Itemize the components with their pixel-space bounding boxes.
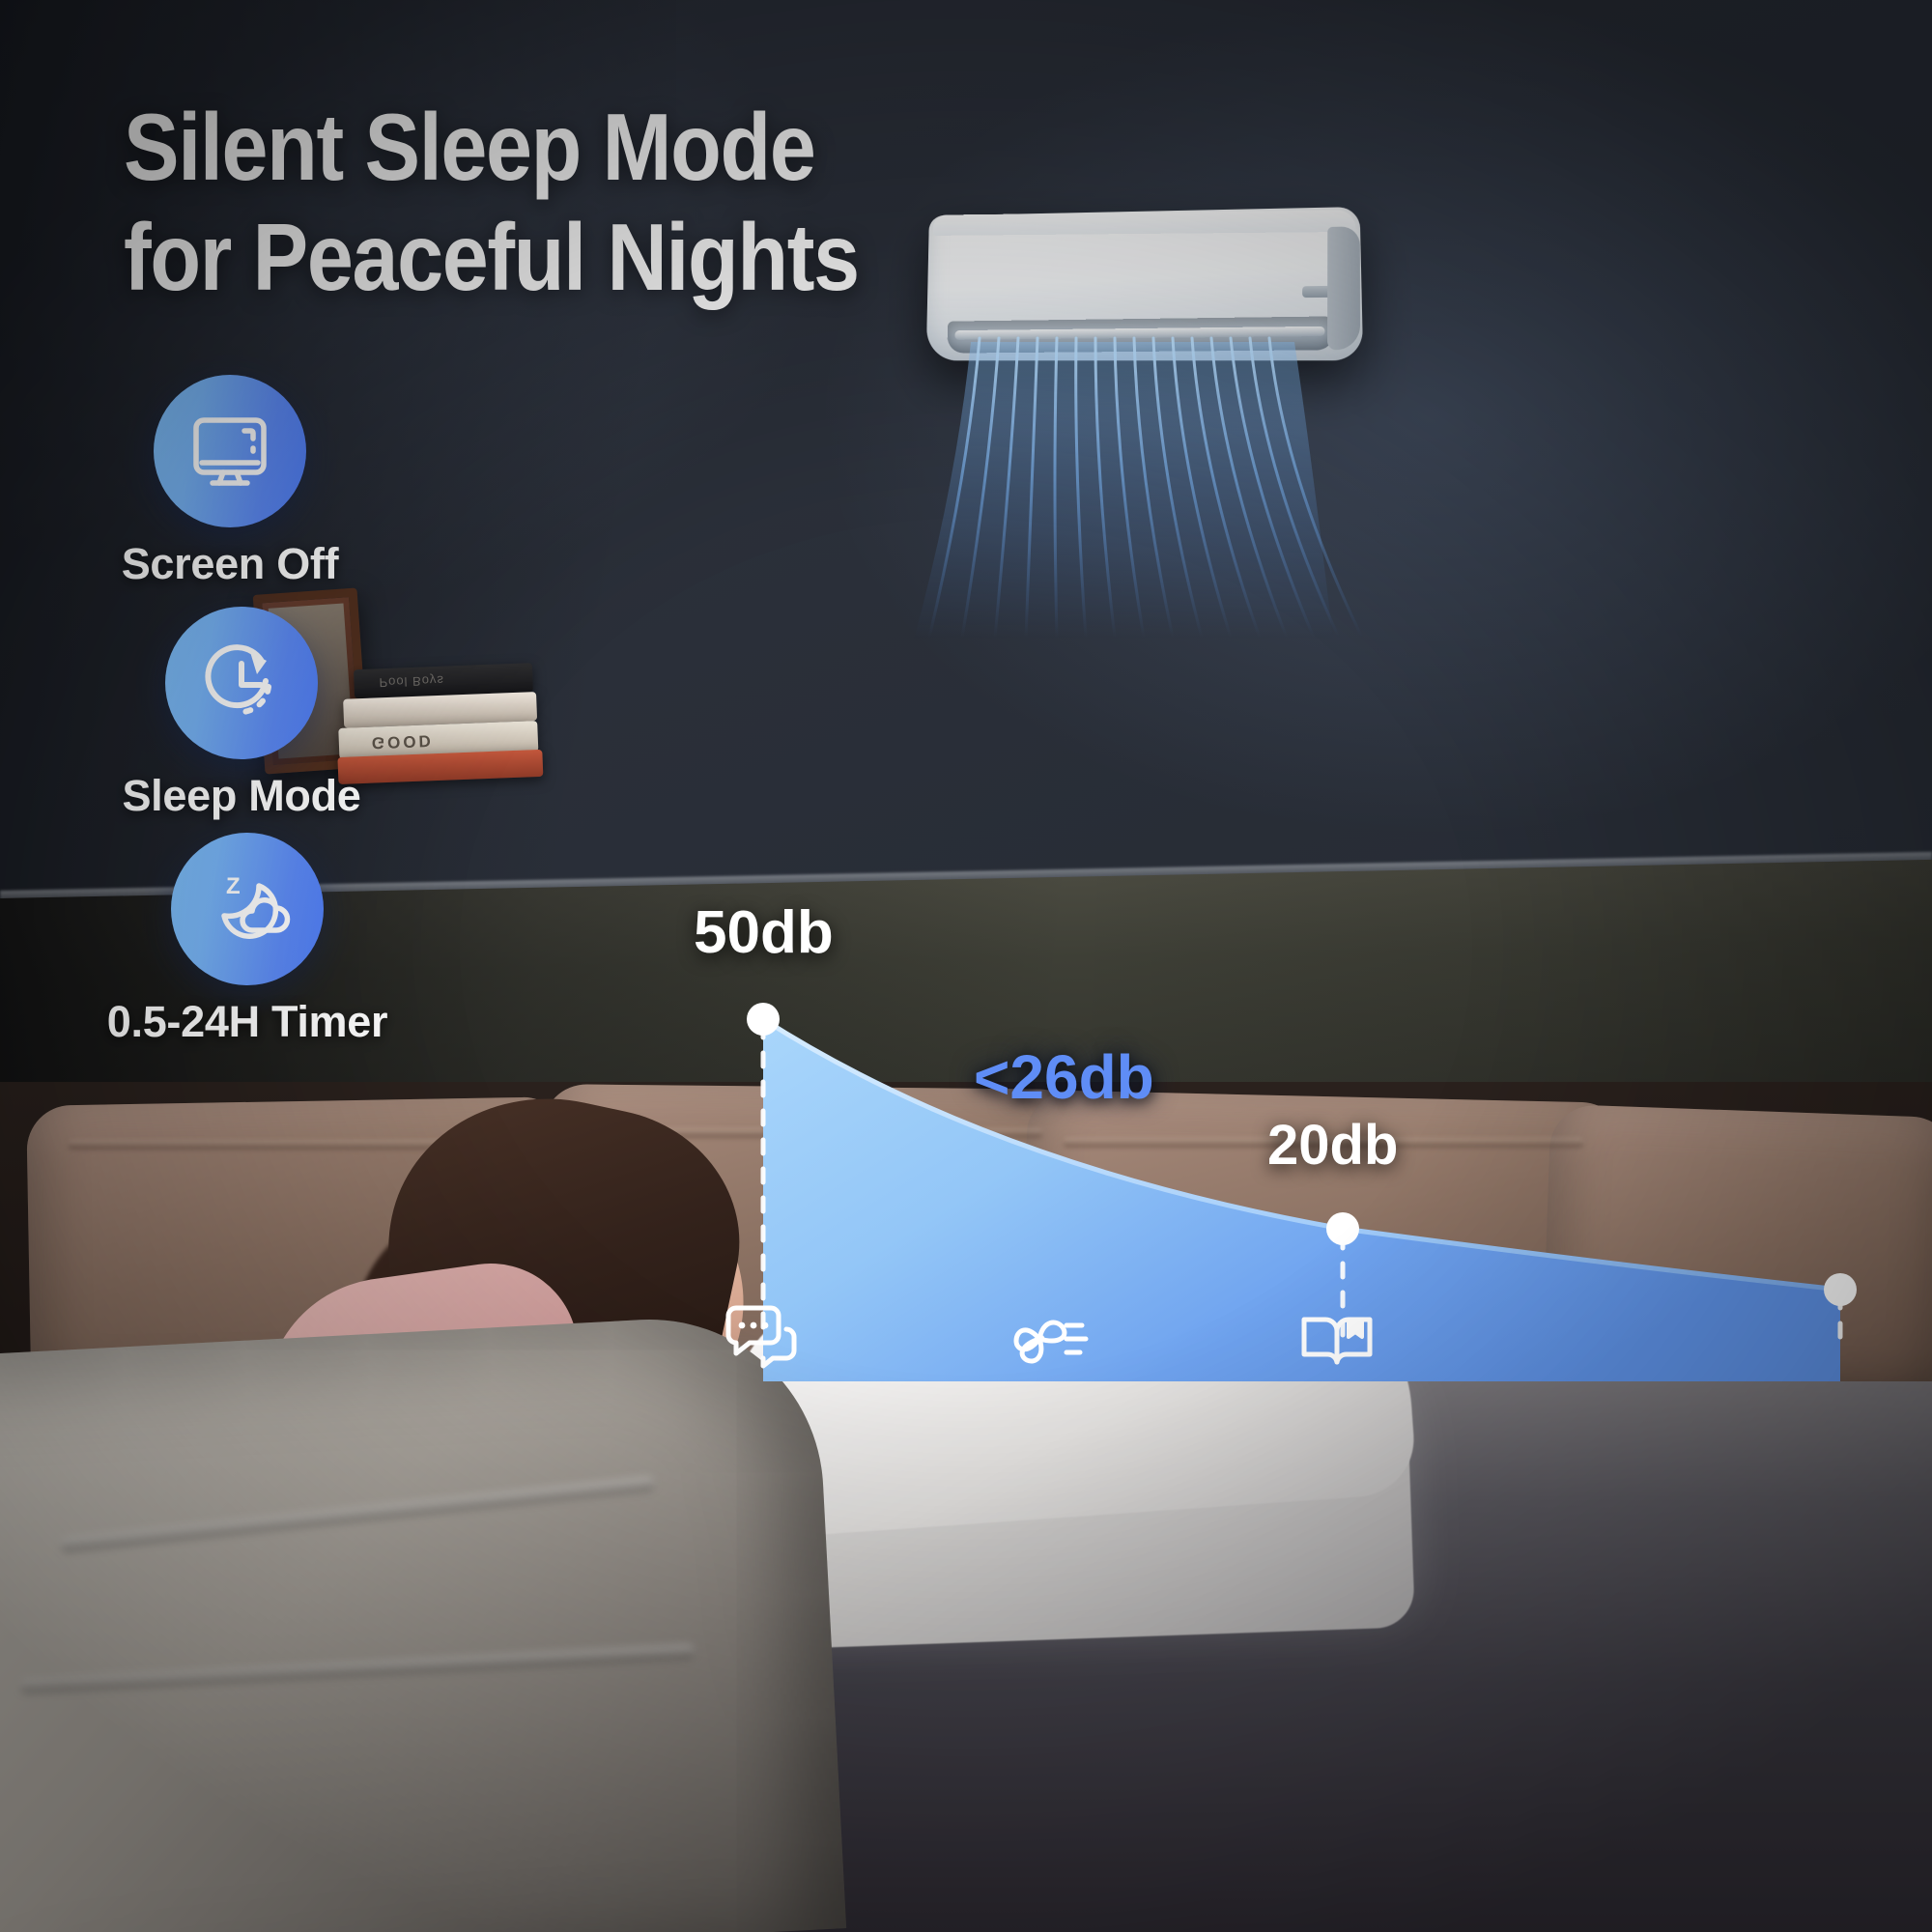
feature-icon-background bbox=[154, 375, 306, 527]
feature-item-timer[interactable]: Z 0.5-24H Timer bbox=[44, 833, 450, 1044]
open-book-icon bbox=[1298, 1308, 1376, 1374]
ac-top-edge bbox=[933, 210, 1356, 236]
page-title: Silent Sleep Mode for Peaceful Nights bbox=[124, 93, 859, 312]
monitor-screen-off-icon bbox=[184, 405, 276, 497]
headline-line-1: Silent Sleep Mode bbox=[124, 94, 815, 200]
chat-bubbles-icon bbox=[723, 1302, 806, 1378]
data-point-20db bbox=[1824, 1273, 1857, 1306]
airflow-streams bbox=[879, 328, 1420, 647]
data-point-50db bbox=[747, 1003, 780, 1036]
chart-label-26db: <26db bbox=[974, 1041, 1154, 1113]
feature-icon-background bbox=[165, 607, 318, 759]
fan-icon bbox=[1010, 1304, 1090, 1376]
feature-item-screen-off[interactable]: Screen Off bbox=[27, 375, 433, 586]
moon-cloud-sleep-icon: Z bbox=[201, 863, 294, 955]
clock-timer-icon bbox=[195, 637, 288, 729]
marketing-image-stage: Pool Boys GOOD bbox=[0, 0, 1932, 1932]
blanket bbox=[0, 1311, 846, 1932]
data-point-26db bbox=[1326, 1212, 1359, 1245]
chart-label-20db: 20db bbox=[1267, 1113, 1398, 1178]
headline-line-2: for Peaceful Nights bbox=[124, 203, 859, 313]
feature-item-sleep-mode[interactable]: Sleep Mode bbox=[39, 607, 444, 818]
svg-text:Z: Z bbox=[226, 873, 241, 899]
chart-label-50db: 50db bbox=[694, 898, 834, 967]
feature-label: Screen Off bbox=[27, 541, 433, 586]
feature-label: 0.5-24H Timer bbox=[44, 999, 450, 1044]
feature-icon-background: Z bbox=[171, 833, 324, 985]
feature-label: Sleep Mode bbox=[39, 773, 444, 818]
